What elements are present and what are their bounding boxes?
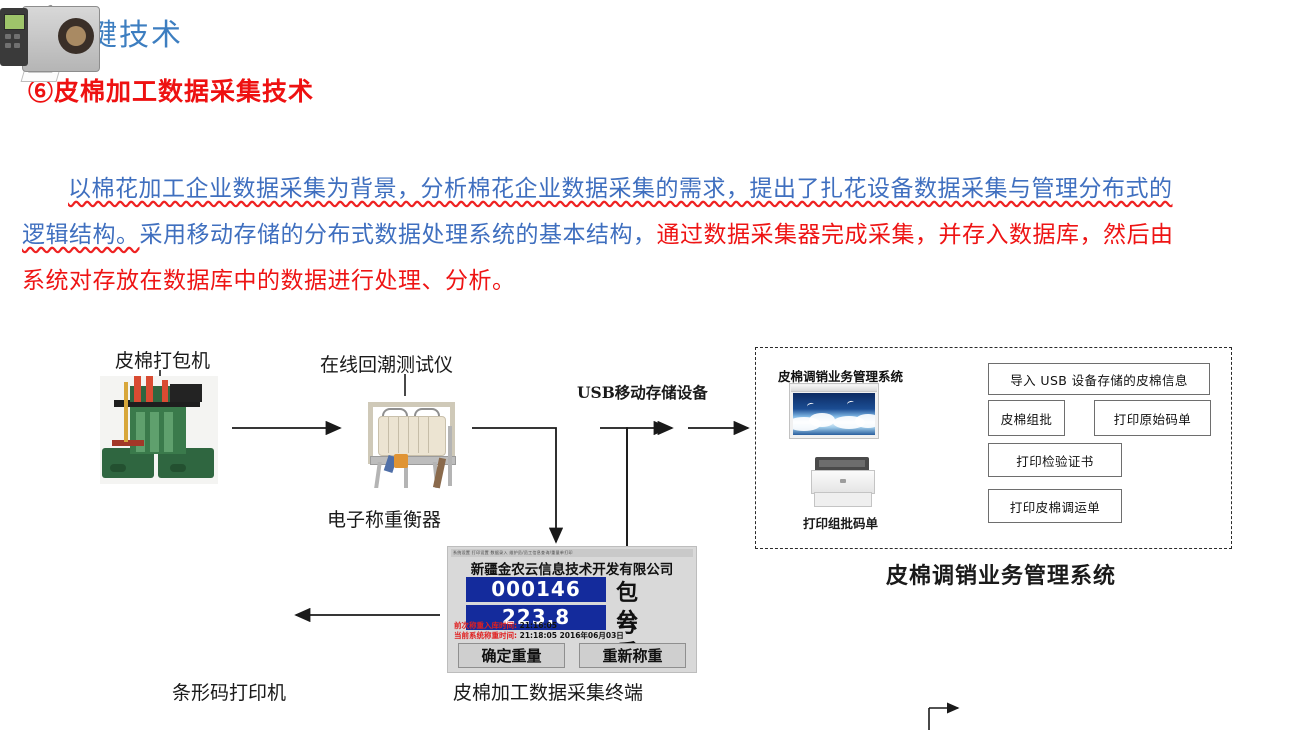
bird-shape [846, 400, 854, 407]
terminal-prev-time-value: 21:16:05 [520, 621, 557, 630]
section-heading: ⑥皮棉加工数据采集技术 [28, 72, 314, 108]
reweigh-button[interactable]: 重新称重 [579, 643, 686, 668]
cloud-shape [855, 414, 875, 428]
terminal-cur-time-label: 当前系统称重时间: [454, 631, 517, 640]
label-data-terminal: 皮棉加工数据采集终端 [453, 678, 643, 705]
terminal-menubar[interactable]: 系统设置 打印设置 数据录入 维护员/员工信息查询/重量单打印 [451, 549, 693, 557]
bird-shape [806, 402, 814, 409]
confirm-weight-button[interactable]: 确定重量 [458, 643, 565, 668]
label-barcode-printer: 条形码打印机 [172, 678, 286, 705]
cloud-shape [809, 413, 835, 427]
body-paragraph: 以棉花加工企业数据采集为背景，分析棉花企业数据采集的需求，提出了扎花设备数据采集… [22, 166, 1182, 304]
flow-box-import-usb[interactable]: 导入 USB 设备存储的皮棉信息 [988, 363, 1210, 395]
paragraph-segment-2: 采用移动存储的分布式数据处理系统的基本结构， [140, 222, 657, 248]
management-system-screenshot [789, 383, 879, 439]
flow-box-print-transport-order[interactable]: 打印皮棉调运单 [988, 489, 1122, 523]
label-baler: 皮棉打包机 [115, 346, 210, 373]
monitor-screen [793, 393, 875, 435]
image-moisture-tester [358, 396, 468, 494]
terminal-button-row: 确定重量 重新称重 [458, 643, 686, 668]
terminal-prev-time-line: 前次称重入库时间: 21:16:05 [454, 621, 692, 631]
label-moisture-tester: 在线回潮测试仪 [320, 350, 453, 377]
flow-box-lint-batching[interactable]: 皮棉组批 [988, 400, 1065, 436]
monitor-titlebar [791, 385, 877, 392]
image-cotton-baler [100, 376, 218, 484]
terminal-cur-date-value: 2016年06月03日 [560, 631, 624, 640]
slide-root: 关键技术 ⑥皮棉加工数据采集技术 以棉花加工企业数据采集为背景，分析棉花企业数据… [0, 0, 1310, 750]
flow-box-print-inspection-certificate[interactable]: 打印检验证书 [988, 443, 1122, 477]
label-print-batch-sheet: 打印组批码单 [803, 513, 878, 532]
image-office-printer [809, 457, 875, 509]
flow-box-print-original-sheet[interactable]: 打印原始码单 [1094, 400, 1211, 436]
terminal-company-name: 新疆金农云信息技术开发有限公司 [448, 558, 696, 578]
terminal-cur-time-line: 当前系统称重时间: 21:18:05 2016年06月03日 [454, 631, 692, 641]
terminal-prev-time-label: 前次称重入库时间: [454, 621, 517, 630]
panel-caption: 皮棉调销业务管理系统 [886, 558, 1116, 590]
label-usb-device: USB移动存储设备 [577, 381, 708, 403]
data-collection-terminal[interactable]: 系统设置 打印设置 数据录入 维护员/员工信息查询/重量单打印 新疆金农云信息技… [447, 546, 697, 673]
terminal-cur-time-value: 21:18:05 [520, 631, 557, 640]
label-weighing-scale: 电子称重衡器 [327, 505, 441, 532]
terminal-bale-number-value: 000146 [466, 577, 606, 602]
terminal-timestamps: 前次称重入库时间: 21:16:05 当前系统称重时间: 21:18:05 20… [454, 621, 692, 641]
